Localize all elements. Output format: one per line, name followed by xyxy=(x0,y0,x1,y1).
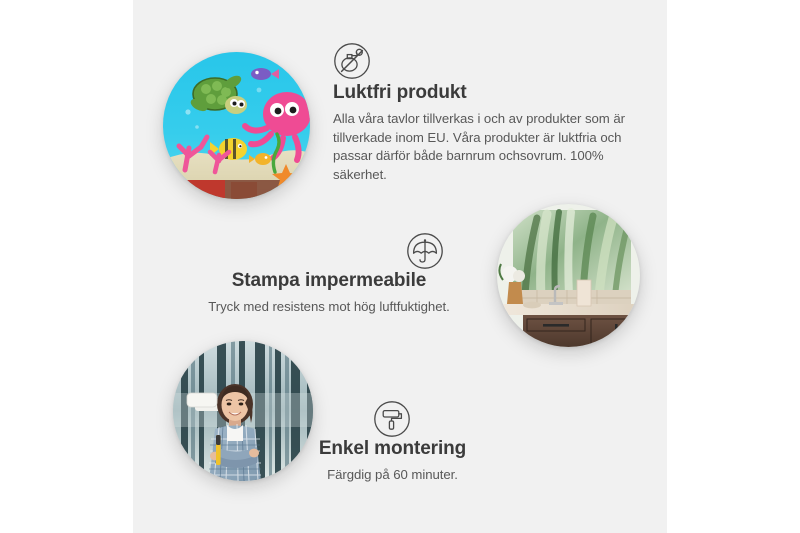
underwater-cartoon-photo xyxy=(163,52,310,199)
feature-odour-free-text: Luktfri produkt Alla våra tavlor tillver… xyxy=(333,82,633,185)
umbrella-icon xyxy=(406,232,444,270)
infographic-root: Luktfri produkt Alla våra tavlor tillver… xyxy=(0,0,800,533)
feature-title: Luktfri produkt xyxy=(333,82,633,105)
feature-body: Färgdig på 60 minuter. xyxy=(280,466,505,485)
paint-roller-icon xyxy=(373,400,411,438)
feature-body: Tryck med resistens mot hög luftfuktighe… xyxy=(195,298,463,317)
feature-title: Stampa impermeabile xyxy=(195,270,463,293)
bathroom-vanity-photo xyxy=(497,204,640,347)
feature-easy-fitting-text: Enkel montering Färgdig på 60 minuter. xyxy=(280,438,505,485)
no-fragrance-spray-icon xyxy=(333,42,371,80)
feature-waterproof-text: Stampa impermeabile Tryck med resistens … xyxy=(195,270,463,317)
feature-body: Alla våra tavlor tillverkas i och av pro… xyxy=(333,110,633,185)
feature-title: Enkel montering xyxy=(280,438,505,461)
